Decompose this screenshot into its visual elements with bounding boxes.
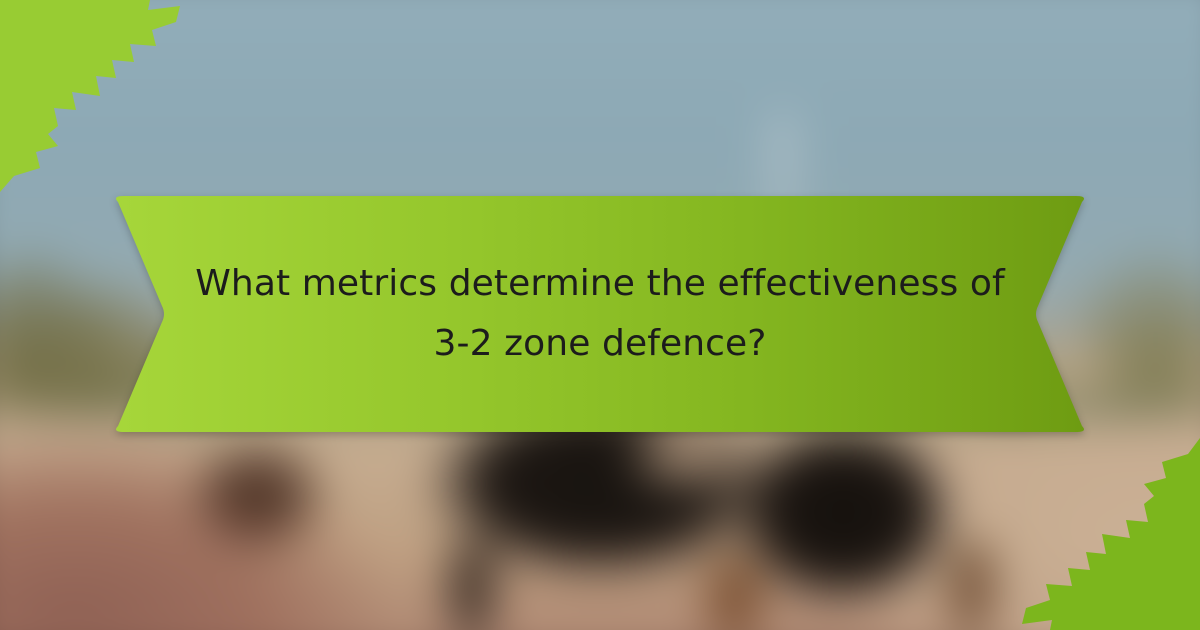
dog-rear-leg (933, 542, 1010, 630)
question-line-1: What metrics determine the effectiveness… (195, 254, 1005, 314)
torn-corner-top-left-icon (0, 0, 190, 215)
dog-tail (139, 443, 344, 571)
question-text: What metrics determine the effectiveness… (108, 194, 1092, 434)
question-line-2: 3-2 zone defence? (434, 314, 767, 374)
social-card: What metrics determine the effectiveness… (0, 0, 1200, 630)
dog-front-leg (434, 542, 511, 630)
dog-middle-leg (690, 556, 780, 630)
torn-corner-bottom-right-icon (1010, 415, 1200, 630)
question-banner: What metrics determine the effectiveness… (108, 194, 1092, 434)
